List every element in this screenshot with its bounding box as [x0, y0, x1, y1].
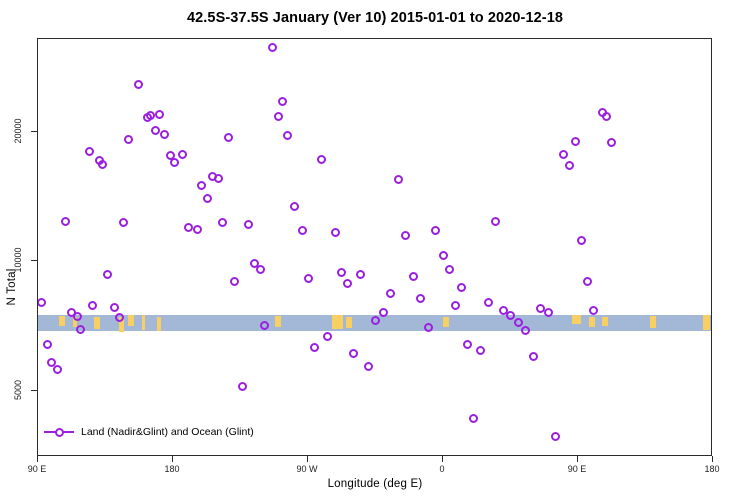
data-point	[278, 97, 287, 106]
x-axis-label: Longitude (deg E)	[0, 478, 750, 490]
data-point	[323, 332, 332, 341]
data-point	[310, 343, 319, 352]
data-point	[386, 289, 395, 298]
data-point	[551, 432, 560, 441]
x-axis-tick-label: 90 W	[296, 464, 317, 474]
x-axis-tick	[712, 456, 713, 462]
land-patch	[443, 317, 449, 327]
land-patch	[572, 315, 581, 324]
x-axis-tick-label: 90 E	[28, 464, 47, 474]
data-point	[230, 277, 239, 286]
data-point	[343, 279, 352, 288]
land-patch	[703, 315, 711, 330]
legend-label: Land (Nadir&Glint) and Ocean (Glint)	[81, 426, 254, 438]
x-axis-tick	[442, 456, 443, 462]
data-point	[349, 349, 358, 358]
data-point	[76, 325, 85, 334]
land-patch	[142, 315, 145, 330]
land-patch	[59, 316, 65, 326]
data-point	[463, 340, 472, 349]
data-point	[565, 161, 574, 170]
data-point	[589, 306, 598, 315]
data-point	[583, 277, 592, 286]
y-axis-label: N Total	[6, 268, 18, 305]
data-point	[317, 155, 326, 164]
data-point	[43, 340, 52, 349]
x-axis-tick-label: 180	[704, 464, 719, 474]
data-point	[178, 150, 187, 159]
data-point	[514, 318, 523, 327]
data-point	[431, 226, 440, 235]
land-patch	[346, 317, 352, 328]
data-point	[521, 326, 530, 335]
data-point	[331, 228, 340, 237]
data-point	[53, 365, 62, 374]
data-point	[364, 362, 373, 371]
data-point	[268, 43, 277, 52]
data-point	[394, 175, 403, 184]
data-point	[484, 298, 493, 307]
land-patch	[94, 317, 100, 329]
data-point	[184, 223, 193, 232]
data-point	[379, 308, 388, 317]
y-axis-tick-label: 20000	[13, 119, 750, 144]
legend-marker-line	[44, 427, 74, 437]
data-point	[424, 323, 433, 332]
x-axis-tick	[37, 456, 38, 462]
land-patch	[650, 316, 656, 328]
land-patch	[332, 315, 343, 329]
data-point	[559, 150, 568, 159]
data-point	[244, 220, 253, 229]
data-point	[134, 80, 143, 89]
data-point	[298, 226, 307, 235]
x-axis-tick-label: 90 E	[568, 464, 587, 474]
data-point	[203, 194, 212, 203]
data-point	[529, 352, 538, 361]
data-point	[476, 346, 485, 355]
legend-marker-circle	[55, 428, 64, 437]
land-patch	[157, 317, 162, 331]
data-point	[416, 294, 425, 303]
data-point	[544, 308, 553, 317]
land-patch	[589, 317, 595, 327]
data-point	[110, 303, 119, 312]
land-patch	[275, 316, 281, 327]
y-axis-tick-label: 10000	[13, 248, 750, 273]
legend[interactable]: Land (Nadir&Glint) and Ocean (Glint)	[40, 424, 258, 440]
data-point	[457, 283, 466, 292]
data-point	[409, 272, 418, 281]
data-point	[577, 236, 586, 245]
x-axis-tick-label: 180	[164, 464, 179, 474]
data-point	[218, 218, 227, 227]
data-point	[170, 158, 179, 167]
data-point	[506, 311, 515, 320]
x-axis-tick	[307, 456, 308, 462]
y-axis-tick-label: 5000	[13, 380, 750, 400]
data-point	[371, 316, 380, 325]
x-axis-tick-label: 0	[439, 464, 444, 474]
data-point	[491, 217, 500, 226]
data-point	[61, 217, 70, 226]
chart-title: 42.5S-37.5S January (Ver 10) 2015-01-01 …	[0, 10, 750, 26]
data-point	[401, 231, 410, 240]
data-point	[193, 225, 202, 234]
data-point	[115, 313, 124, 322]
x-axis-tick	[577, 456, 578, 462]
data-point	[469, 414, 478, 423]
data-point	[119, 218, 128, 227]
data-point	[197, 181, 206, 190]
data-point	[451, 301, 460, 310]
data-point	[88, 301, 97, 310]
chart-canvas: 42.5S-37.5S January (Ver 10) 2015-01-01 …	[0, 0, 750, 500]
data-point	[98, 160, 107, 169]
land-patch	[602, 317, 608, 326]
data-point	[73, 312, 82, 321]
data-point	[304, 274, 313, 283]
data-point	[260, 321, 269, 330]
data-point	[85, 147, 94, 156]
land-patch	[128, 315, 134, 326]
data-point	[214, 174, 223, 183]
x-axis-tick	[172, 456, 173, 462]
data-point	[290, 202, 299, 211]
data-point	[37, 298, 46, 307]
